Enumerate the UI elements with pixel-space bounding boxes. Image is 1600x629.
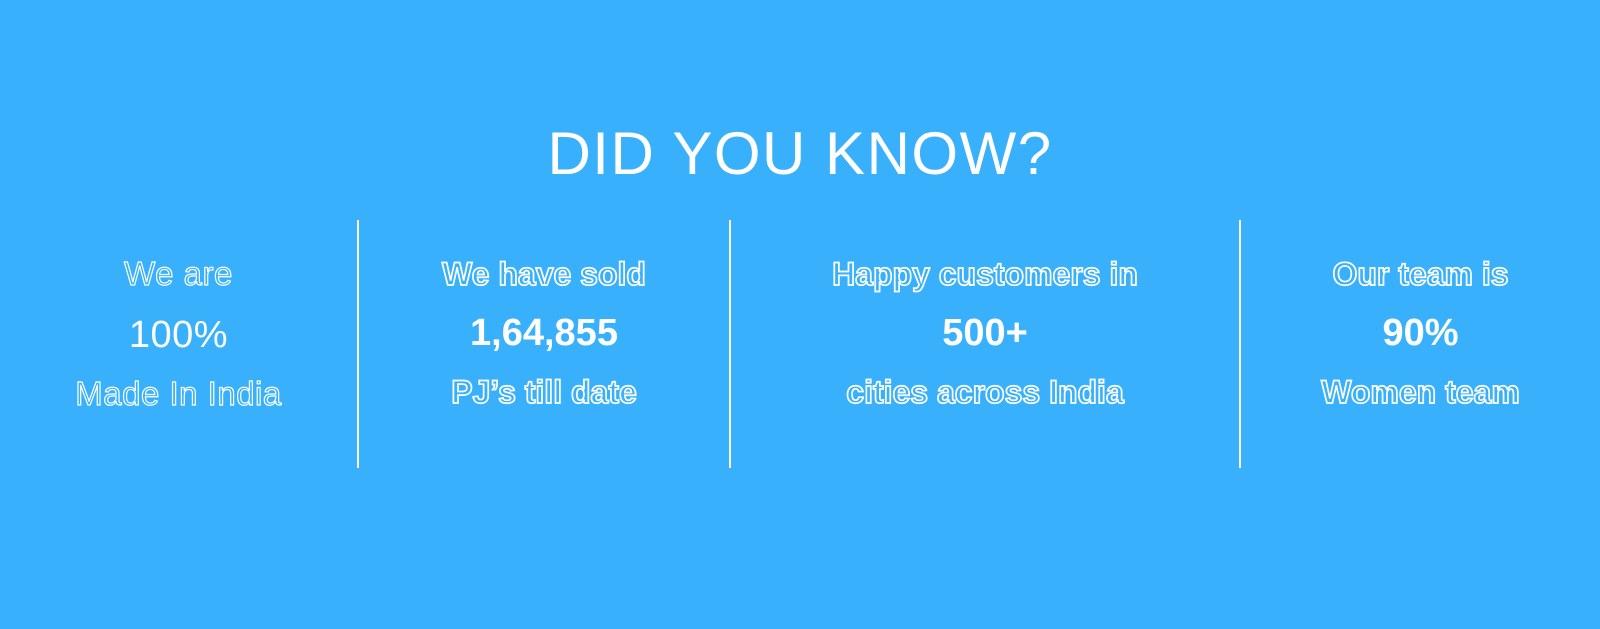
- stat-value: 500+: [942, 310, 1028, 356]
- stat-card-cities-covered: Happy customers in 500+ cities across In…: [731, 220, 1239, 468]
- stat-tail-label: Women team: [1321, 372, 1520, 412]
- stat-card-made-in-india: We are 100% Made In India: [0, 220, 357, 468]
- stat-lead-label: Our team is: [1332, 254, 1508, 294]
- stat-value: 90%: [1382, 310, 1458, 356]
- stat-lead-label: We have sold: [442, 254, 646, 294]
- did-you-know-banner: DID YOU KNOW? We are 100% Made In India …: [0, 0, 1600, 629]
- stat-tail-label: cities across India: [846, 372, 1123, 412]
- stat-lead-label: Happy customers in: [832, 254, 1138, 294]
- stats-strip: We are 100% Made In India We have sold 1…: [0, 220, 1600, 468]
- stat-tail-label: Made In India: [75, 374, 281, 414]
- column-divider: [1239, 220, 1241, 468]
- stat-card-units-sold: We have sold 1,64,855 PJ’s till date: [359, 220, 729, 468]
- stat-value: 1,64,855: [470, 310, 618, 356]
- stat-card-women-team: Our team is 90% Women team: [1241, 220, 1600, 468]
- stat-value: 100%: [129, 312, 228, 358]
- stat-tail-label: PJ’s till date: [451, 372, 637, 412]
- column-divider: [357, 220, 359, 468]
- page-title: DID YOU KNOW?: [0, 118, 1600, 190]
- stat-lead-label: We are: [124, 254, 233, 294]
- column-divider: [729, 220, 731, 468]
